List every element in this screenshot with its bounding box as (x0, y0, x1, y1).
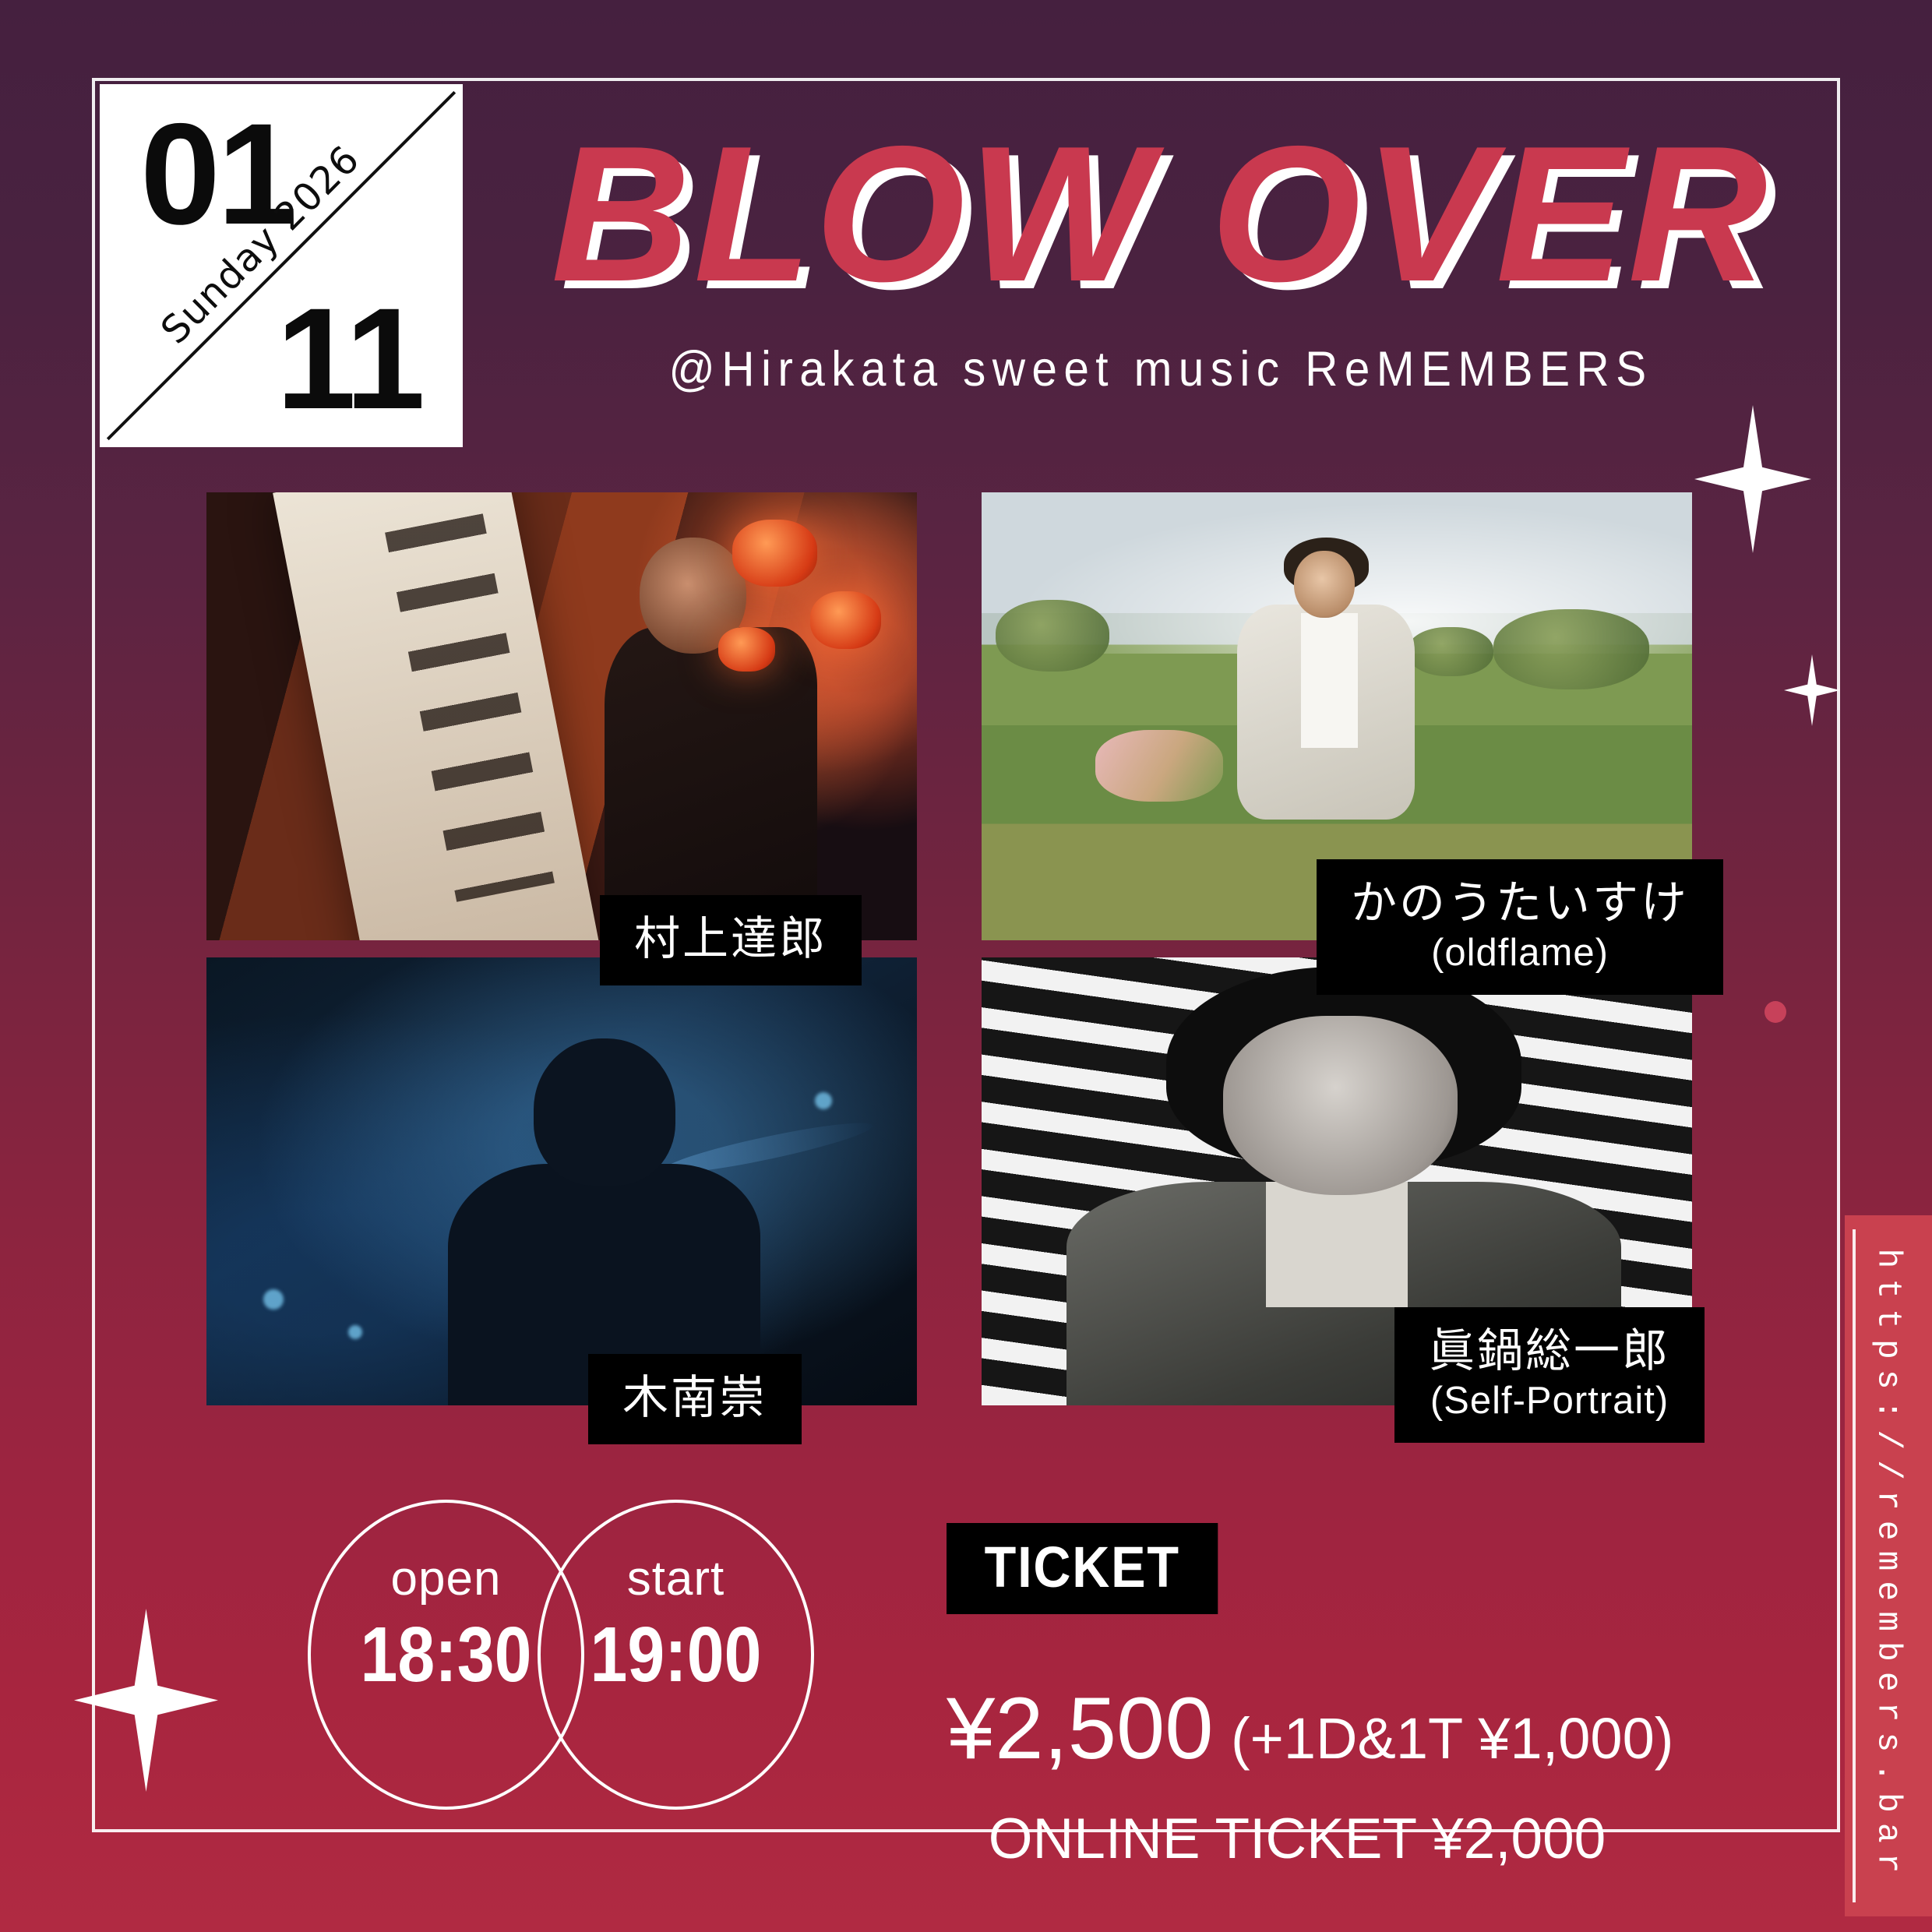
artist-name-jp: かのうたいすけ (1351, 876, 1689, 929)
photo3-figure-head (534, 1038, 675, 1186)
ticket-price-row: ¥2,500 (+1D&1T ¥1,000) (947, 1678, 1648, 1779)
artist-name-label: 村上達郎 (600, 895, 862, 985)
artist-name-label: 木南崇 (588, 1354, 802, 1444)
ticket-block: TICKET ¥2,500 (+1D&1T ¥1,000) ONLINE TIC… (947, 1523, 1648, 1871)
artist-card[interactable]: 眞鍋総一郎 (Self-Portrait) (982, 957, 1692, 1405)
start-time-circle: start 19:00 (538, 1500, 814, 1810)
start-label: start (541, 1551, 811, 1606)
artist-name-jp: 眞鍋総一郎 (1429, 1324, 1670, 1377)
photo2-tree-a (996, 600, 1109, 672)
photo4-figure-shirt (1266, 1182, 1408, 1307)
artist-name-label: かのうたいすけ (oldflame) (1317, 859, 1723, 995)
photo3-light-a (263, 1289, 284, 1310)
artist-card[interactable]: かのうたいすけ (oldflame) (982, 492, 1692, 940)
venue-line: @Hirakata sweet music ReMEMBERS (559, 341, 1762, 397)
photo2-tree-b (1493, 609, 1650, 690)
flyer-canvas: 01 11 Sunday 2026 BLOW OVER @Hirakata sw… (0, 0, 1932, 1932)
title-block: BLOW OVER @Hirakata sweet music ReMEMBER… (514, 117, 1807, 397)
ticket-online-price: ONLINE TICKET ¥2,000 (947, 1807, 1648, 1871)
start-time: 19:00 (559, 1610, 791, 1700)
artist-name-en: (Self-Portrait) (1429, 1379, 1670, 1423)
photo3-light-c (815, 1092, 832, 1109)
artist-grid: 村上達郎 かのうたいすけ (oldflame) (206, 492, 1726, 1405)
artist-card[interactable]: 村上達郎 (206, 492, 917, 940)
artist-name-label: 眞鍋総一郎 (Self-Portrait) (1394, 1307, 1705, 1443)
artist-name-jp: 木南崇 (622, 1371, 767, 1424)
artist-name-jp: 村上達郎 (634, 912, 827, 965)
artist-name-en: (oldflame) (1351, 931, 1689, 975)
ticket-price-extra: (+1D&1T ¥1,000) (1231, 1706, 1673, 1771)
photo1-lantern-c (718, 627, 775, 672)
open-time: 18:30 (330, 1610, 562, 1700)
photo3-light-b (348, 1325, 362, 1339)
photo2-figure-shirt (1301, 613, 1358, 748)
photo1-lantern-b (810, 591, 881, 650)
ticket-badge: TICKET (947, 1523, 1218, 1614)
artist-photo-1 (206, 492, 917, 940)
photo2-bouquet (1095, 730, 1223, 802)
sparkle-icon-bottom-left (74, 1609, 218, 1792)
artist-grid-row: 村上達郎 かのうたいすけ (oldflame) (206, 492, 1726, 940)
artist-photo-3 (206, 957, 917, 1405)
event-title: BLOW OVER (514, 117, 1807, 310)
photo1-figure-body (605, 627, 818, 941)
date-box: 01 11 Sunday 2026 (100, 84, 463, 447)
photo2-tree-c (1408, 627, 1493, 676)
website-url[interactable]: https://remembers.bar (1870, 1249, 1908, 1884)
sparkle-icon-right-small (1784, 654, 1840, 726)
dot-icon-right (1765, 1001, 1786, 1023)
ticket-price-main: ¥2,500 (947, 1680, 1214, 1777)
date-day: 11 (276, 287, 422, 432)
photo2-figure-face (1294, 551, 1355, 618)
url-rail-rule (1853, 1229, 1856, 1902)
url-rail: https://remembers.bar (1845, 1215, 1932, 1916)
artist-grid-row: 木南崇 眞鍋総一郎 (Self-Portrait) (206, 957, 1726, 1405)
artist-card[interactable]: 木南崇 (206, 957, 917, 1405)
photo4-figure-face (1223, 1016, 1458, 1195)
photo1-lantern-a (732, 520, 817, 587)
